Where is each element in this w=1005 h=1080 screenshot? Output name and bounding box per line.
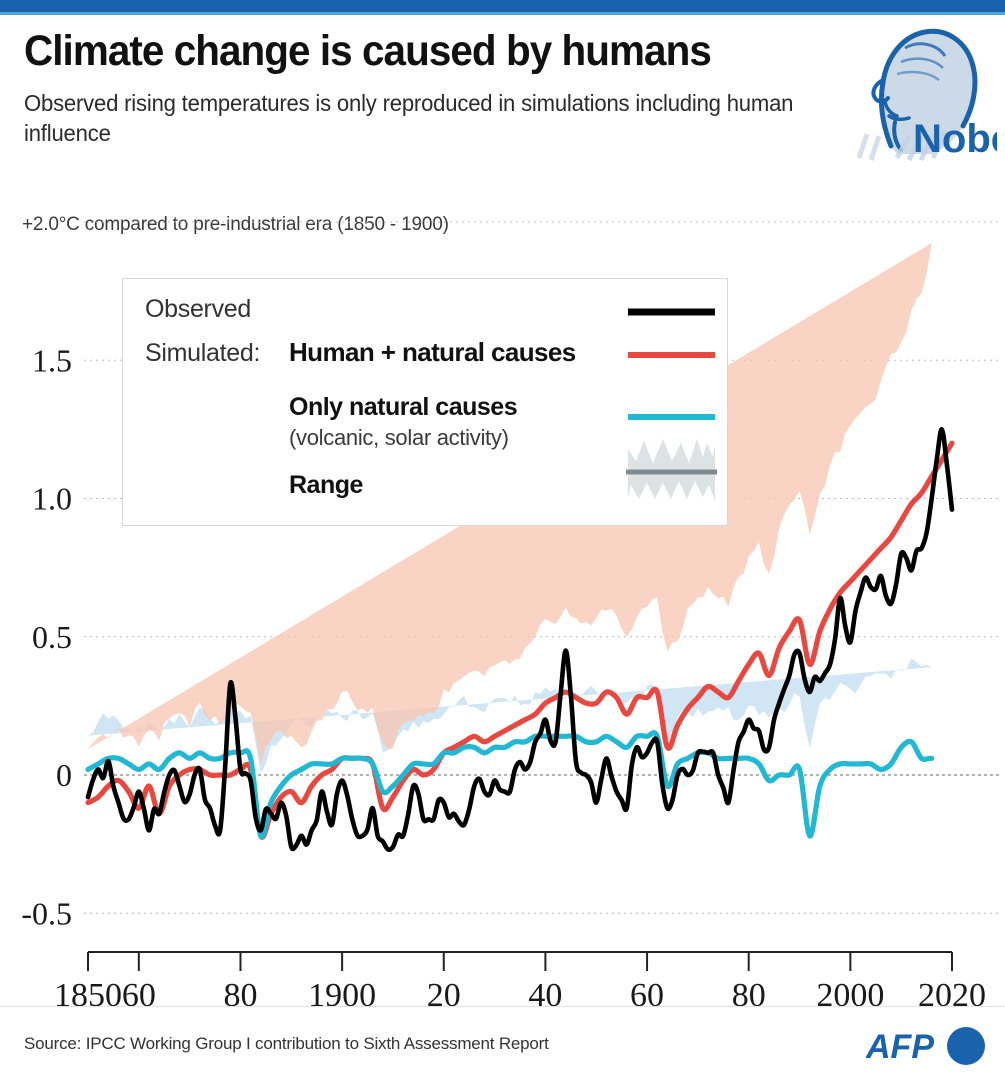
legend-label-only-natural: Only natural causes [289,393,517,422]
brand-top-bar-accent [0,12,1005,15]
header-block: Climate change is caused by humans Obser… [24,26,844,148]
x-tick-label: 60 [630,977,664,1006]
y-tick-label: -0.5 [21,895,72,931]
y-tick-label: 0.5 [32,619,72,655]
y-axis-labels: -0.500.51.01.5 [21,342,72,931]
x-tick-label: 60 [122,977,156,1006]
x-axis: 1850608019002040608020002020 [54,952,986,1006]
legend-label-human-natural: Human + natural causes [289,337,576,368]
legend-label-simulated: Simulated: [145,339,260,368]
legend-swatch-range-band [628,439,715,501]
afp-text: AFP [866,1028,934,1066]
page-title: Climate change is caused by humans [24,26,795,76]
afp-wordmark-icon: AFP [866,1024,986,1070]
y-tick-label: 0 [56,757,72,793]
nobel-portrait-icon: Nobel [845,18,997,168]
legend-label-observed: Observed [145,295,251,324]
legend-label-only-natural-sub: (volcanic, solar activity) [289,425,509,451]
x-tick-label: 1900 [308,977,376,1006]
footer-divider [0,1006,1005,1007]
source-note: Source: IPCC Working Group I contributio… [24,1034,549,1054]
page-subtitle: Observed rising temperatures is only rep… [24,88,811,148]
x-tick-label: 2000 [816,977,884,1006]
legend-label-range: Range [289,471,363,500]
nobel-logo: Nobel [845,18,997,168]
nobel-wordmark: Nobel [913,117,997,161]
x-tick-label: 40 [528,977,562,1006]
x-tick-label: 20 [427,977,461,1006]
brand-top-bar [0,0,1005,12]
x-tick-label: 2020 [918,977,986,1006]
infographic-page: Climate change is caused by humans Obser… [0,0,1005,1080]
afp-dot-icon [947,1027,985,1065]
x-tick-label: 1850 [54,977,122,1006]
x-tick-label: 80 [732,977,766,1006]
chart-legend: Observed Simulated: Human + natural caus… [122,278,728,526]
y-tick-label: 1.0 [32,481,72,517]
afp-logo: AFP [866,1024,986,1070]
x-tick-label: 80 [223,977,257,1006]
y-tick-label: 1.5 [32,342,72,378]
